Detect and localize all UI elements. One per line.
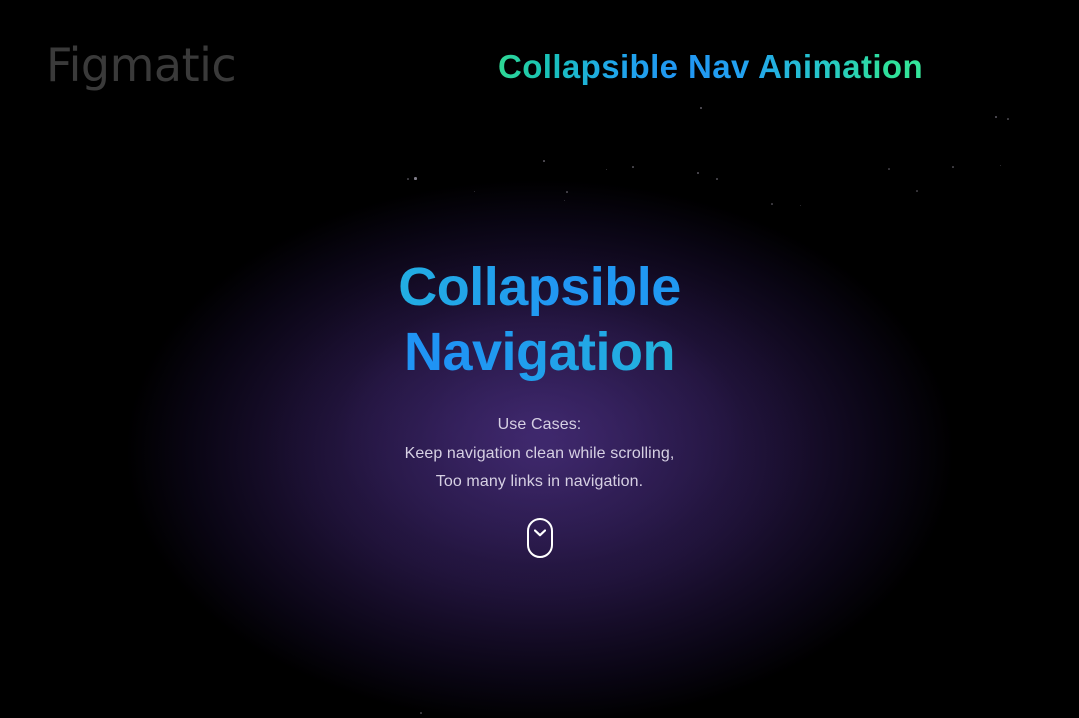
- star-dot: [1000, 165, 1001, 166]
- star-dot: [566, 191, 568, 193]
- chevron-down-icon: [534, 529, 546, 537]
- star-dot: [564, 200, 565, 201]
- hero-section: Collapsible Navigation Use Cases: Keep n…: [0, 255, 1079, 558]
- star-dot: [716, 178, 718, 180]
- star-dot: [800, 205, 801, 206]
- star-dot: [407, 178, 409, 180]
- star-dot: [697, 172, 699, 174]
- page-title: Collapsible Nav Animation: [498, 48, 923, 86]
- star-dot: [420, 712, 422, 714]
- star-dot: [916, 190, 918, 192]
- star-dot: [414, 177, 417, 180]
- hero-heading-line-2: Navigation: [0, 320, 1079, 385]
- star-dot: [632, 166, 634, 168]
- figmatic-logo[interactable]: Figmatic: [46, 42, 236, 88]
- use-case-item-1: Keep navigation clean while scrolling,: [0, 440, 1079, 469]
- star-dot: [543, 160, 545, 162]
- use-cases-label: Use Cases:: [0, 411, 1079, 440]
- mouse-scroll-down-icon[interactable]: [527, 518, 553, 558]
- page-header: Figmatic Collapsible Nav Animation: [0, 0, 1079, 120]
- app-stage: Figmatic Collapsible Nav Animation Colla…: [0, 0, 1079, 718]
- star-dot: [888, 168, 890, 170]
- star-dot: [474, 191, 475, 192]
- use-case-item-2: Too many links in navigation.: [0, 468, 1079, 497]
- hero-heading-line-1: Collapsible: [0, 255, 1079, 320]
- use-cases-block: Use Cases: Keep navigation clean while s…: [0, 411, 1079, 497]
- star-dot: [952, 166, 954, 168]
- star-dot: [606, 169, 607, 170]
- star-dot: [771, 203, 773, 205]
